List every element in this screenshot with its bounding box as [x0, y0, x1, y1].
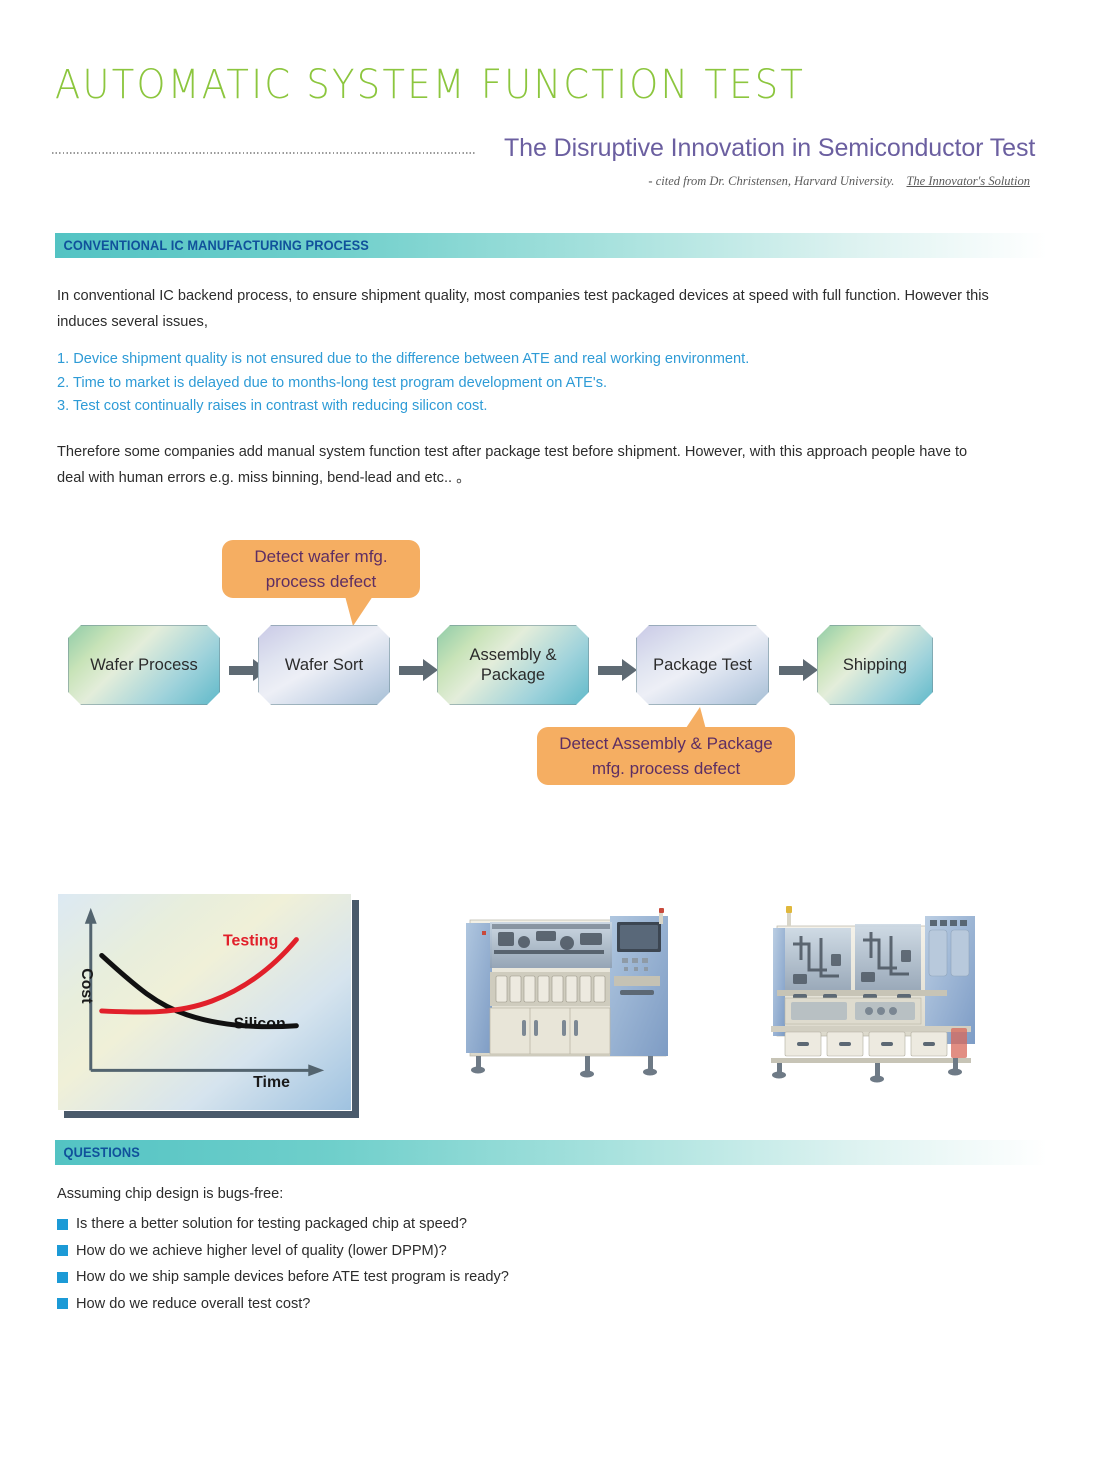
section-band-questions-label: QUESTIONS [55, 1145, 140, 1160]
section-band-questions: QUESTIONS [55, 1140, 1047, 1165]
ic-process-flow-diagram: Detect wafer mfg. process defect Wafer P… [0, 525, 1102, 805]
flow-step-package-test[interactable]: Package Test [636, 625, 769, 705]
chart-xlabel: Time [253, 1074, 290, 1091]
arrow-head [803, 659, 818, 681]
citation-book-title: The Innovator's Solution [906, 174, 1030, 188]
arrow-head [622, 659, 637, 681]
page-title: AUTOMATIC SYSTEM FUNCTION TEST [55, 62, 805, 108]
issue-item: 1. Device shipment quality is not ensure… [57, 348, 997, 372]
section-band-conventional: CONVENTIONAL IC MANUFACTURING PROCESS [55, 233, 1047, 258]
chart-x-axis-arrowhead [308, 1064, 324, 1076]
flow-step-wafer-sort[interactable]: Wafer Sort [258, 625, 390, 705]
callout-wafer-defect-label: Detect wafer mfg. process defect [236, 544, 406, 594]
arrow-shaft [779, 666, 805, 675]
citation-dash: - [648, 174, 652, 188]
cost-vs-time-chart: Cost Time Testing Silicon [57, 893, 352, 1111]
therefore-paragraph: Therefore some companies add manual syst… [57, 439, 997, 491]
issue-list: 1. Device shipment quality is not ensure… [57, 348, 997, 419]
chart-ylabel: Cost [78, 968, 95, 1004]
intro-paragraph: In conventional IC backend process, to e… [57, 283, 997, 335]
header-dotted-rule [52, 152, 477, 154]
page-subtitle: The Disruptive Innovation in Semiconduct… [504, 134, 1035, 163]
chart-series-testing [102, 940, 297, 1013]
square-bullet-icon [57, 1272, 68, 1283]
square-bullet-icon [57, 1219, 68, 1230]
arrow-head [423, 659, 438, 681]
square-bullet-icon [57, 1245, 68, 1256]
question-item: How do we ship sample devices before ATE… [57, 1264, 509, 1291]
question-item-label: How do we achieve higher level of qualit… [76, 1243, 447, 1259]
callout-wafer-defect-tail [345, 596, 373, 626]
machine-2-svg [757, 898, 987, 1088]
test-handler-machine-2 [757, 898, 987, 1088]
question-item-label: Is there a better solution for testing p… [76, 1216, 467, 1232]
question-item-label: How do we ship sample devices before ATE… [76, 1269, 509, 1285]
flow-step-assembly-package[interactable]: Assembly & Package [437, 625, 589, 705]
square-bullet-icon [57, 1298, 68, 1309]
arrow-shaft [598, 666, 624, 675]
question-item-label: How do we reduce overall test cost? [76, 1296, 310, 1312]
flow-arrow-2 [399, 659, 439, 681]
section-band-conventional-label: CONVENTIONAL IC MANUFACTURING PROCESS [55, 238, 369, 253]
flow-step-package-test-label: Package Test [653, 655, 752, 675]
flow-arrow-4 [779, 659, 819, 681]
flow-step-wafer-process-label: Wafer Process [90, 655, 198, 675]
cost-chart-svg: Cost Time Testing Silicon [58, 894, 351, 1110]
flow-step-shipping[interactable]: Shipping [817, 625, 933, 705]
callout-assembly-defect-label: Detect Assembly & Package mfg. process d… [551, 731, 781, 781]
citation-line: - cited from Dr. Christensen, Harvard Un… [648, 174, 1030, 189]
chart-y-axis-arrowhead [85, 908, 97, 924]
callout-assembly-defect: Detect Assembly & Package mfg. process d… [537, 727, 795, 785]
issue-item: 2. Time to market is delayed due to mont… [57, 372, 997, 396]
flow-arrow-3 [598, 659, 638, 681]
flow-step-assembly-package-label: Assembly & Package [437, 645, 589, 685]
citation-text: cited from Dr. Christensen, Harvard Univ… [656, 174, 895, 188]
questions-intro: Assuming chip design is bugs-free: [57, 1186, 283, 1202]
questions-list: Is there a better solution for testing p… [57, 1211, 509, 1317]
machine-1-svg [452, 898, 682, 1088]
flow-step-wafer-process[interactable]: Wafer Process [68, 625, 220, 705]
flow-step-wafer-sort-label: Wafer Sort [285, 655, 363, 675]
arrow-shaft [399, 666, 425, 675]
question-item: Is there a better solution for testing p… [57, 1211, 509, 1238]
flow-step-shipping-label: Shipping [843, 655, 907, 675]
chart-series-label-silicon: Silicon [234, 1016, 286, 1033]
chart-series-label-testing: Testing [223, 933, 278, 950]
arrow-shaft [229, 666, 255, 675]
callout-wafer-defect: Detect wafer mfg. process defect [222, 540, 420, 598]
issue-item: 3. Test cost continually raises in contr… [57, 395, 997, 419]
test-handler-machine-1 [452, 898, 682, 1088]
question-item: How do we reduce overall test cost? [57, 1291, 509, 1318]
question-item: How do we achieve higher level of qualit… [57, 1238, 509, 1265]
